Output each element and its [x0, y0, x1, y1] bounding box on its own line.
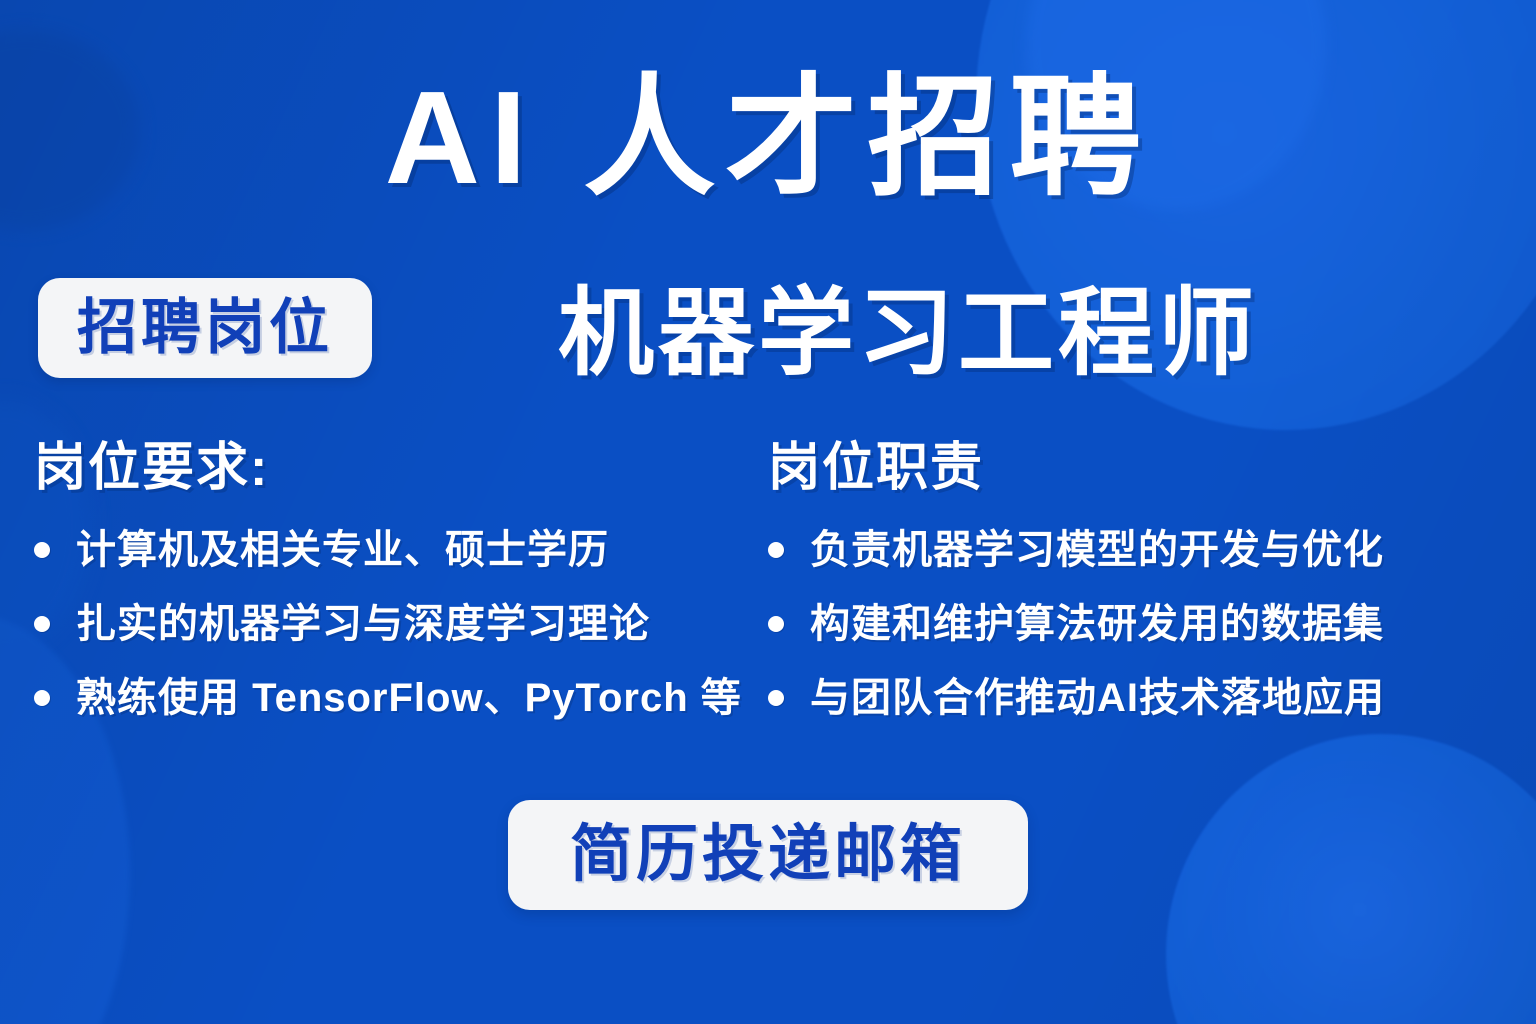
requirements-heading: 岗位要求:	[34, 440, 760, 497]
poster-subtitle-job-title: 机器学习工程师	[430, 286, 1386, 382]
requirement-text: 熟练使用 TensorFlow、PyTorch 等	[76, 675, 742, 721]
list-item: 构建和维护算法研发用的数据集	[768, 601, 1536, 647]
bullet-dot-icon	[34, 616, 50, 632]
bullet-dot-icon	[768, 542, 784, 558]
responsibilities-list: 负责机器学习模型的开发与优化 构建和维护算法研发用的数据集 与团队合作推动AI技…	[768, 527, 1536, 721]
list-item: 负责机器学习模型的开发与优化	[768, 527, 1536, 573]
resume-email-button[interactable]: 简历投递邮箱	[508, 800, 1028, 910]
responsibilities-heading: 岗位职责	[768, 440, 1536, 497]
bullet-dot-icon	[34, 690, 50, 706]
responsibilities-column: 岗位职责 负责机器学习模型的开发与优化 构建和维护算法研发用的数据集 与团队合作…	[760, 440, 1536, 749]
list-item: 扎实的机器学习与深度学习理论	[34, 601, 760, 647]
bullet-dot-icon	[768, 616, 784, 632]
requirements-responsibilities-columns: 岗位要求: 计算机及相关专业、硕士学历 扎实的机器学习与深度学习理论 熟练使用 …	[0, 440, 1536, 749]
poster-content: AI 人才招聘 招聘岗位 机器学习工程师 岗位要求: 计算机及相关专业、硕士学历…	[0, 0, 1536, 1024]
bullet-dot-icon	[768, 690, 784, 706]
requirements-column: 岗位要求: 计算机及相关专业、硕士学历 扎实的机器学习与深度学习理论 熟练使用 …	[0, 440, 760, 749]
position-badge-label: 招聘岗位	[77, 298, 333, 358]
list-item: 与团队合作推动AI技术落地应用	[768, 675, 1536, 721]
bullet-dot-icon	[34, 542, 50, 558]
responsibility-text: 与团队合作推动AI技术落地应用	[810, 675, 1385, 721]
responsibility-text: 构建和维护算法研发用的数据集	[810, 601, 1384, 647]
list-item: 计算机及相关专业、硕士学历	[34, 527, 760, 573]
poster-main-title: AI 人才招聘	[0, 72, 1536, 204]
requirements-list: 计算机及相关专业、硕士学历 扎实的机器学习与深度学习理论 熟练使用 Tensor…	[34, 527, 760, 721]
resume-email-button-label: 简历投递邮箱	[570, 824, 966, 886]
requirement-text: 扎实的机器学习与深度学习理论	[76, 601, 650, 647]
position-badge: 招聘岗位	[38, 278, 372, 378]
list-item: 熟练使用 TensorFlow、PyTorch 等	[34, 675, 760, 721]
requirement-text: 计算机及相关专业、硕士学历	[76, 527, 609, 573]
recruitment-poster: AI 人才招聘 招聘岗位 机器学习工程师 岗位要求: 计算机及相关专业、硕士学历…	[0, 0, 1536, 1024]
responsibility-text: 负责机器学习模型的开发与优化	[810, 527, 1384, 573]
